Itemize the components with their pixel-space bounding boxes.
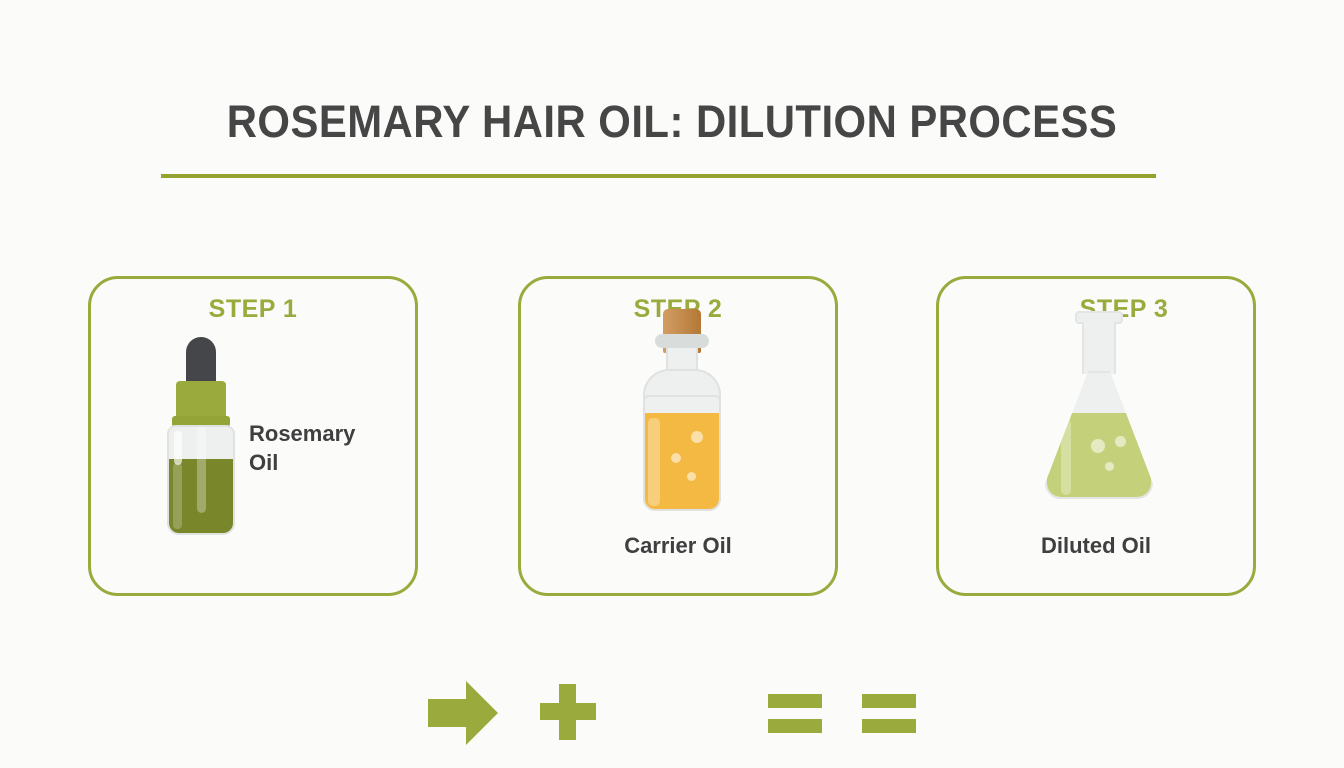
step-2-caption: Carrier Oil [521, 531, 835, 560]
bubble [671, 453, 681, 463]
equals-bar-top [862, 694, 916, 708]
bubble [1115, 436, 1126, 447]
page-title: ROSEMARY HAIR OIL: DILUTION PROCESS [47, 98, 1297, 145]
plus-bar-vertical [559, 684, 576, 740]
bubble [691, 431, 703, 443]
pipette-tube [197, 427, 206, 513]
carrier-oil-liquid [645, 413, 719, 509]
glass-shine [174, 431, 182, 465]
bubble [1091, 439, 1105, 453]
bubble [1105, 462, 1114, 471]
equals-bar-bottom [768, 719, 822, 733]
dropper-glass-body [167, 425, 235, 535]
liquid-highlight [173, 463, 182, 529]
equals-bar-bottom [862, 719, 916, 733]
step-1-label: STEP 1 [91, 295, 415, 324]
title-underline-rule [161, 174, 1156, 178]
flask-cone-body [1045, 371, 1153, 499]
liquid-highlight [1061, 419, 1071, 495]
liquid-highlight [648, 418, 660, 506]
step-3-caption: Diluted Oil [939, 531, 1253, 560]
step-1-caption: Rosemary Oil [249, 419, 389, 477]
steps-row: STEP 1 Rosemary Oil STEP 2 [0, 276, 1344, 596]
equals-bar-top [768, 694, 822, 708]
step-card-1[interactable]: STEP 1 Rosemary Oil [88, 276, 418, 596]
equals-icon-between-cards [862, 694, 916, 734]
step-card-3[interactable]: STEP 3 Diluted Oil [936, 276, 1256, 596]
dropper-bottle-icon [153, 337, 249, 537]
erlenmeyer-flask-icon [1035, 311, 1163, 511]
title-block: ROSEMARY HAIR OIL: DILUTION PROCESS [0, 98, 1344, 145]
plus-icon [540, 684, 596, 740]
arrow-right-icon [428, 680, 498, 746]
cork-bottle-icon [625, 309, 737, 514]
step-card-2[interactable]: STEP 2 Carrier Oil [518, 276, 838, 596]
diluted-oil-liquid [1047, 413, 1151, 497]
dropper-cap [176, 381, 226, 421]
bottle-glass-body [643, 395, 721, 511]
bottle-collar-ring [655, 334, 709, 348]
bubble [687, 472, 696, 481]
equals-icon-card2 [768, 694, 822, 734]
flask-neck [1082, 322, 1116, 374]
